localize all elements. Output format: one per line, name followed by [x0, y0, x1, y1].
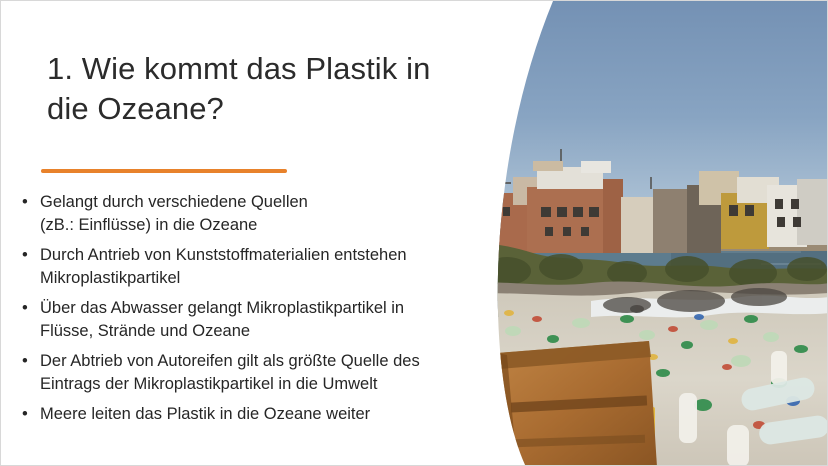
slide: 1. Wie kommt das Plastik in die Ozeane? …: [0, 0, 828, 466]
list-item-line-1: Gelangt durch verschiedene Quellen: [40, 193, 308, 211]
list-item-line-2: Mikroplastikpartikel: [40, 267, 488, 290]
list-item-line-1: Meere leiten das Plastik in die Ozeane w…: [40, 405, 370, 423]
list-item: • Gelangt durch verschiedene Quellen (zB…: [18, 191, 488, 237]
list-item-line-2: Eintrags der Mikroplastikpartikel in die…: [40, 373, 488, 396]
list-item-line-1: Der Abtrieb von Autoreifen gilt als größ…: [40, 352, 420, 370]
bullet-marker-icon: •: [22, 297, 28, 320]
list-item-text: Gelangt durch verschiedene Quellen (zB.:…: [40, 191, 488, 237]
list-item: • Über das Abwasser gelangt Mikroplastik…: [18, 297, 488, 343]
accent-divider: [41, 169, 287, 173]
photo-content: [441, 1, 828, 466]
bullet-list: • Gelangt durch verschiedene Quellen (zB…: [18, 191, 488, 433]
title-line-1: 1. Wie kommt das Plastik in: [47, 49, 447, 89]
list-item-line-2: Flüsse, Strände und Ozeane: [40, 320, 488, 343]
title-line-2: die Ozeane?: [47, 89, 447, 129]
list-item-text: Meere leiten das Plastik in die Ozeane w…: [40, 403, 488, 426]
list-item: • Der Abtrieb von Autoreifen gilt als gr…: [18, 350, 488, 396]
list-item-text: Durch Antrieb von Kunststoffmaterialien …: [40, 244, 488, 290]
bullet-marker-icon: •: [22, 191, 28, 214]
page-title: 1. Wie kommt das Plastik in die Ozeane?: [47, 49, 447, 129]
list-item-text: Der Abtrieb von Autoreifen gilt als größ…: [40, 350, 488, 396]
list-item-line-1: Über das Abwasser gelangt Mikroplastikpa…: [40, 299, 404, 317]
slide-photo: [441, 1, 828, 466]
list-item: • Meere leiten das Plastik in die Ozeane…: [18, 403, 488, 426]
photo-wooden-crate: [497, 341, 657, 466]
list-item: • Durch Antrieb von Kunststoffmaterialie…: [18, 244, 488, 290]
bullet-marker-icon: •: [22, 244, 28, 267]
bullet-marker-icon: •: [22, 350, 28, 373]
list-item-line-2: (zB.: Einflüsse) in die Ozeane: [40, 214, 488, 237]
bullet-marker-icon: •: [22, 403, 28, 426]
list-item-line-1: Durch Antrieb von Kunststoffmaterialien …: [40, 246, 407, 264]
list-item-text: Über das Abwasser gelangt Mikroplastikpa…: [40, 297, 488, 343]
